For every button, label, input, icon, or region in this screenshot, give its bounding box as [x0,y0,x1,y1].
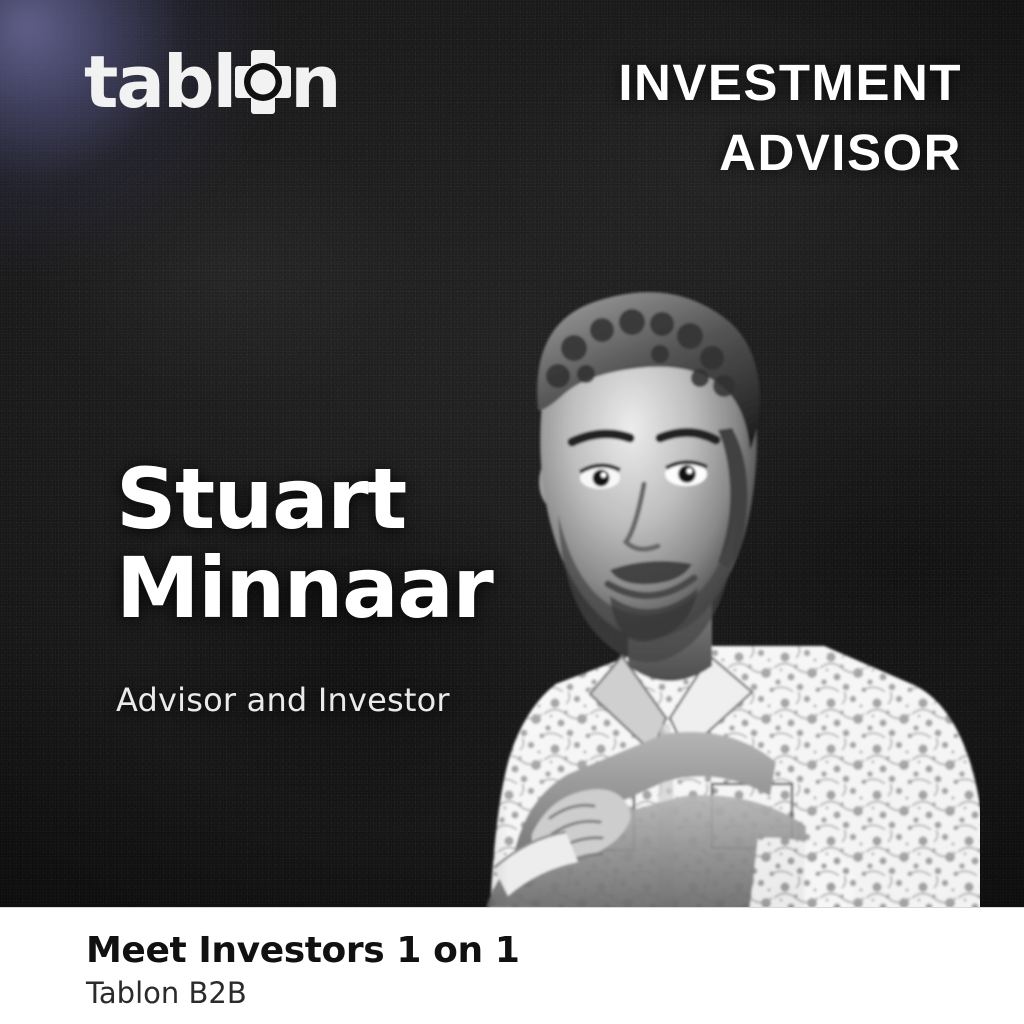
person-first-name: Stuart [116,455,536,544]
role-line-2: ADVISOR [492,118,962,188]
person-name-block: Stuart Minnaar Advisor and Investor [116,455,536,719]
person-subtitle: Advisor and Investor [116,681,536,719]
footer-title: Meet Investors 1 on 1 [86,930,1024,972]
role-line-1: INVESTMENT [492,48,962,118]
logo-text-before: tabl [84,46,235,118]
aperture-icon [233,48,293,116]
footer-subtitle: Tablon B2B [86,976,1024,1011]
brand-logo[interactable]: tabl n [84,47,340,117]
role-title: INVESTMENT ADVISOR [492,48,962,189]
logo-text-after: n [290,46,339,118]
advisor-announcement-card: tabl n INVESTMENT ADVISOR Stuart Minnaar… [0,0,1024,1024]
person-name: Stuart Minnaar [116,455,536,633]
person-last-name: Minnaar [116,544,536,633]
footer-bar: Meet Investors 1 on 1 Tablon B2B [0,907,1024,1024]
